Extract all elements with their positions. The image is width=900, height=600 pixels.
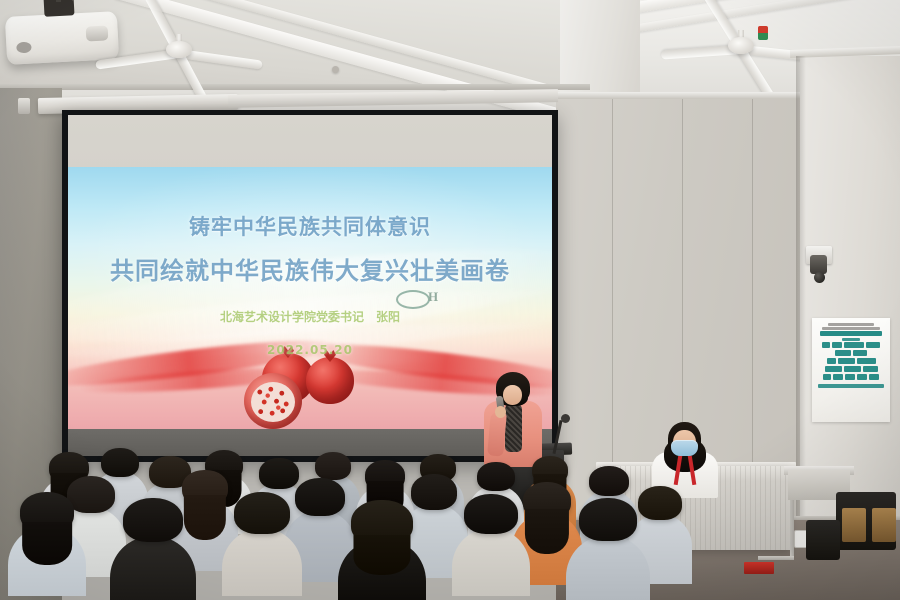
notice-row (816, 366, 886, 372)
projected-slide: 铸牢中华民族共同体意识 共同绘就中华民族伟大复兴壮美画卷 北海艺术设计学院党委书… (68, 167, 552, 429)
notice-bar (820, 331, 882, 336)
notice-chip (838, 358, 855, 364)
notice-footer-bar (818, 384, 884, 388)
notice-heading-line (828, 323, 874, 326)
fan-hub (728, 37, 754, 54)
seat-armrest (872, 508, 896, 542)
notice-chip (857, 374, 867, 380)
projection-screen: 铸牢中华民族共同体意识 共同绘就中华民族伟大复兴壮美画卷 北海艺术设计学院党委书… (62, 110, 558, 462)
audience-shoulders (110, 536, 196, 600)
notice-chip (857, 358, 876, 364)
wall-pipe (758, 556, 794, 560)
notice-chip (845, 374, 855, 380)
podium-microphone-head-icon (561, 414, 570, 423)
audience-long-hair (22, 522, 72, 565)
notice-chip (844, 342, 864, 348)
slide-logo: H (396, 288, 448, 308)
ceiling-fan-right (740, 44, 741, 45)
audience-head (315, 452, 351, 480)
audience-head (477, 462, 515, 491)
notice-chip (853, 350, 867, 356)
slide-title-line-1: 铸牢中华民族共同体意识 (68, 211, 552, 241)
ceiling-fan-left (178, 48, 179, 49)
audience-shoulders (222, 528, 302, 596)
notice-heading-line (822, 327, 880, 330)
audience-head (123, 498, 183, 542)
screen-surface: 铸牢中华民族共同体意识 共同绘就中华民族伟大复兴壮美画卷 北海艺术设计学院党委书… (68, 115, 552, 456)
logo-letter: H (428, 289, 438, 305)
presenter-inner-top (505, 404, 522, 452)
audience-member (566, 498, 650, 600)
projector-rod (56, 0, 61, 2)
notice-line (842, 338, 860, 341)
slide-title-line-2: 共同绘就中华民族伟大复兴壮美画卷 (68, 251, 552, 286)
face-mask-icon (671, 440, 698, 456)
presenter-hand (495, 406, 506, 418)
audience-member (8, 492, 86, 600)
notice-row (816, 350, 886, 356)
fan-hub (166, 41, 192, 58)
notice-chip (833, 374, 843, 380)
slide-date: 2022.05.20 (68, 343, 552, 357)
notice-chip (822, 342, 830, 348)
audience-member (452, 494, 530, 600)
wall-rail (556, 92, 808, 99)
notice-row (816, 374, 886, 380)
logo-ring-icon (396, 290, 430, 309)
notice-chip (863, 366, 878, 372)
audience-head (589, 466, 629, 496)
audience-long-hair (525, 509, 569, 554)
wall-surveillance-camera-icon (806, 246, 832, 290)
audience-head (464, 494, 518, 534)
notice-chip (835, 350, 851, 356)
projector-lens-icon (86, 25, 109, 41)
camera-lens-icon (814, 272, 825, 283)
notice-chip (827, 358, 836, 364)
slide-text-block: 铸牢中华民族共同体意识 共同绘就中华民族伟大复兴壮美画卷 北海艺术设计学院党委书… (68, 167, 552, 429)
presenter-face (503, 385, 522, 405)
audience-shoulders (566, 535, 650, 600)
red-floor-box (744, 562, 774, 574)
notice-chip (844, 366, 861, 372)
audience-member (222, 492, 302, 600)
audience-shoulders (452, 528, 530, 596)
screen-housing-clip (18, 98, 30, 114)
audience-member (338, 500, 426, 600)
lecture-hall-photo: 铸牢中华民族共同体意识 共同绘就中华民族伟大复兴壮美画卷 北海艺术设计学院党委书… (0, 0, 900, 600)
audience-head (234, 492, 290, 534)
audience-member (110, 498, 196, 600)
notice-chip (869, 374, 879, 380)
right-wall (800, 56, 900, 526)
ceiling-fixture (332, 66, 339, 73)
notice-chip (866, 342, 880, 348)
notice-row (816, 358, 886, 364)
seat-armrest (842, 508, 866, 542)
projector-cable (72, 0, 124, 6)
wall-notice-board (812, 318, 890, 422)
notice-chip (823, 374, 831, 380)
notice-chip (825, 366, 842, 372)
projector-mount (43, 0, 74, 17)
notice-chip (832, 342, 842, 348)
audience-head (579, 498, 637, 541)
fan-ribbon-tag (758, 26, 768, 40)
audience-head (101, 448, 139, 477)
notice-row (816, 342, 886, 348)
audience-long-hair (353, 535, 410, 575)
corner-shadow (796, 56, 806, 526)
seat-back (806, 520, 840, 560)
slide-presenter-credit: 北海艺术设计学院党委书记 张阳 (68, 308, 552, 325)
